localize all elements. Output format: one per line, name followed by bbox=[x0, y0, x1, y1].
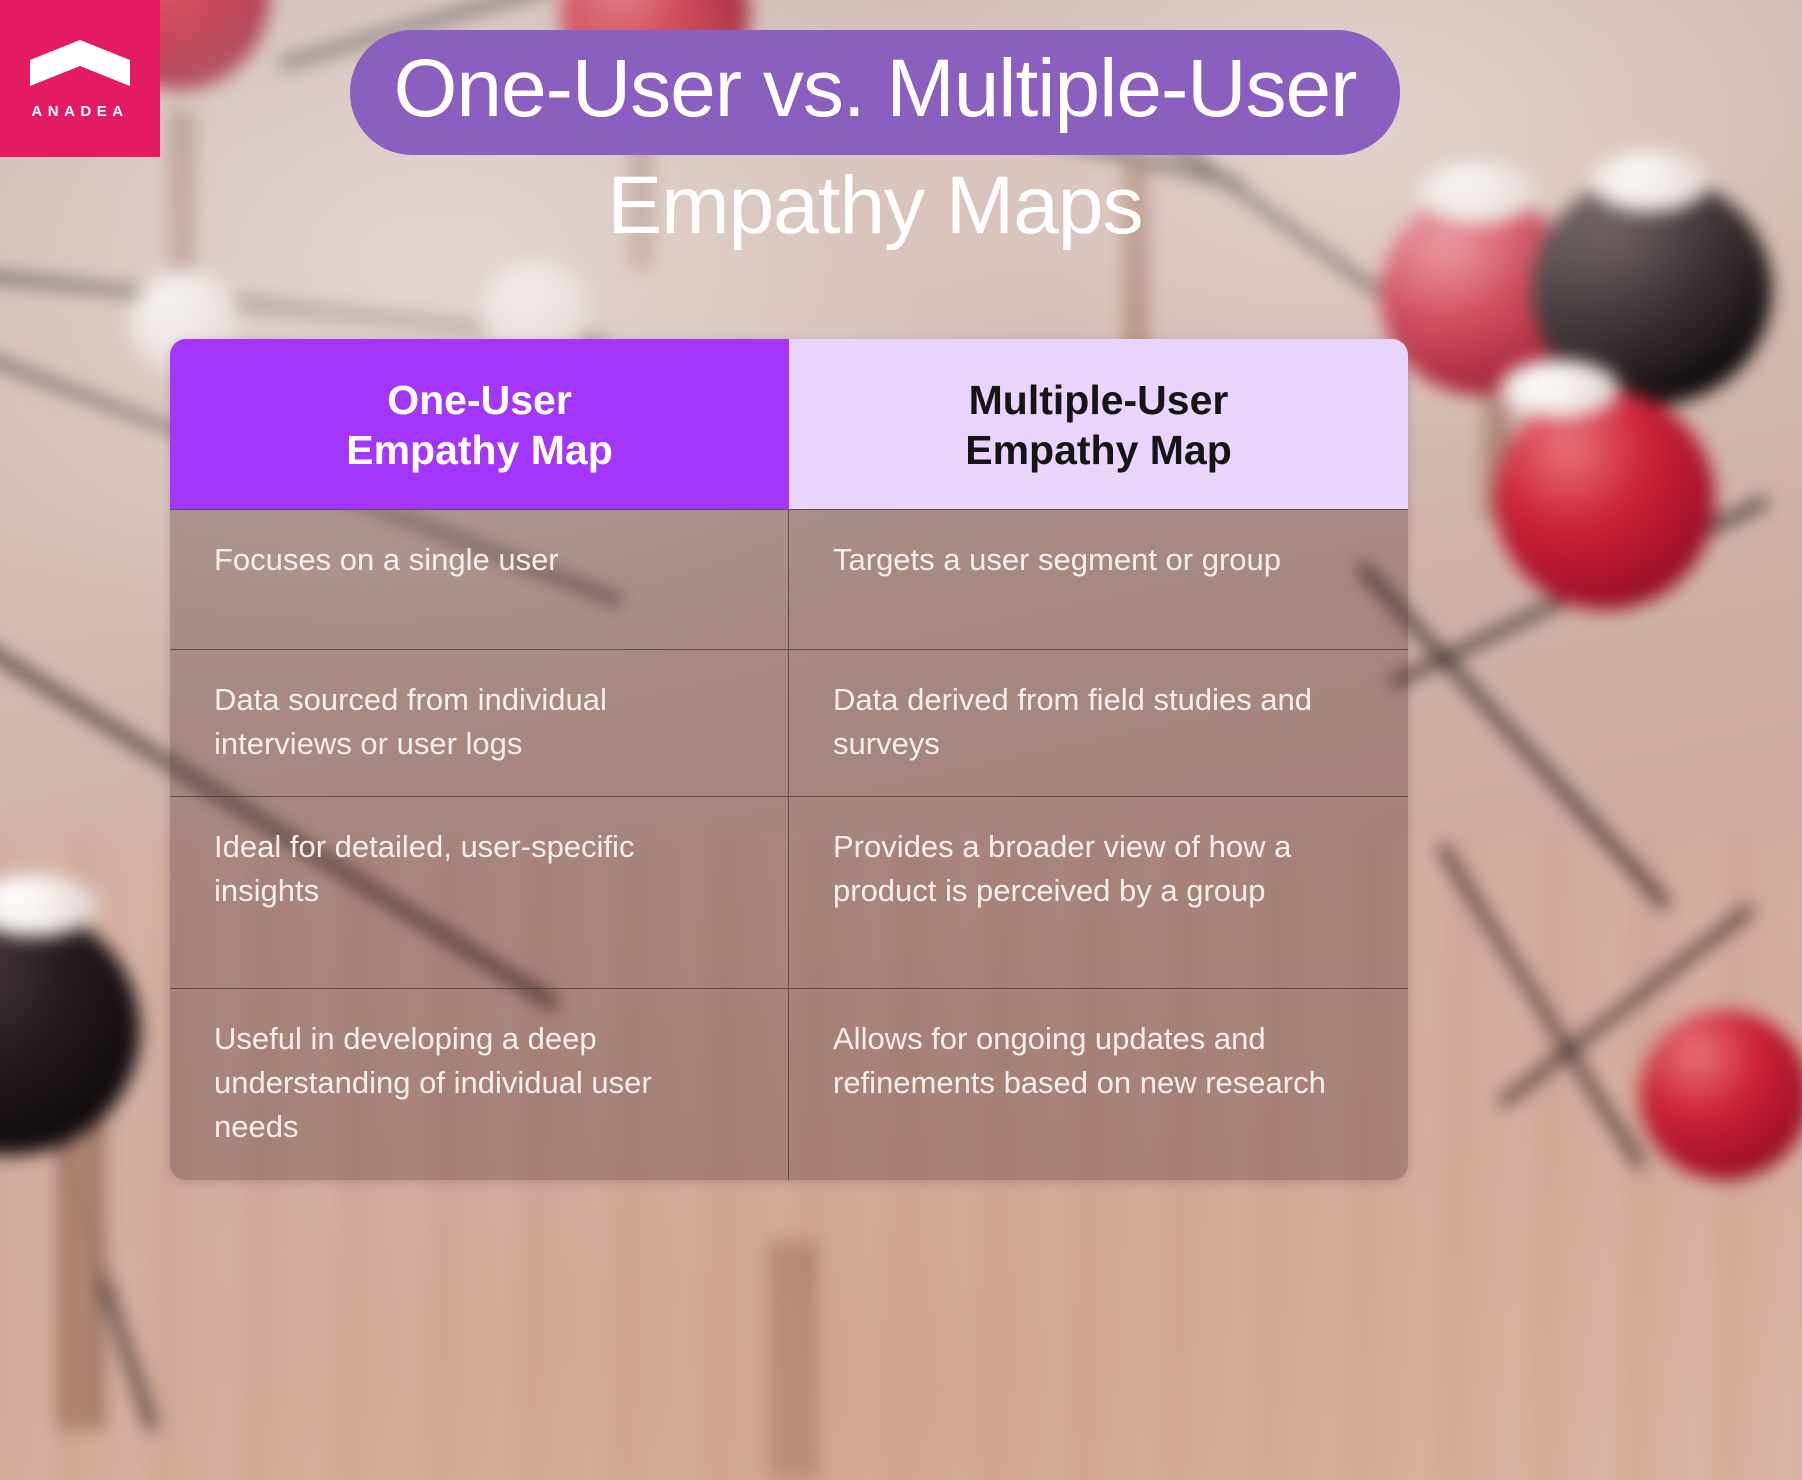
header-line-2: Empathy Map bbox=[188, 425, 771, 475]
table-cell-right: Data derived from field studies and surv… bbox=[789, 649, 1408, 796]
infographic-canvas: ANADEA One-User vs. Multiple-User Empath… bbox=[0, 0, 1802, 1480]
header-line-2: Empathy Map bbox=[807, 425, 1390, 475]
title-line-1: One-User vs. Multiple-User bbox=[350, 30, 1401, 155]
table-cell-left: Ideal for detailed, user-specific insigh… bbox=[170, 796, 789, 988]
table-cell-right: Targets a user segment or group bbox=[789, 509, 1408, 649]
table-cell-right: Provides a broader view of how a product… bbox=[789, 796, 1408, 988]
anadea-wordmark: ANADEA bbox=[31, 104, 128, 119]
comparison-table: One-User Empathy Map Multiple-User Empat… bbox=[170, 339, 1408, 1180]
header-line-1: Multiple-User bbox=[807, 375, 1390, 425]
table-row: Useful in developing a deep understandin… bbox=[170, 988, 1408, 1180]
title-line-2: Empathy Maps bbox=[160, 161, 1590, 251]
table-header-multiple-user: Multiple-User Empathy Map bbox=[789, 339, 1408, 509]
table-row: Ideal for detailed, user-specific insigh… bbox=[170, 796, 1408, 988]
table-cell-left: Useful in developing a deep understandin… bbox=[170, 988, 789, 1180]
table-cell-left: Focuses on a single user bbox=[170, 509, 789, 649]
anadea-chevron-logo-icon bbox=[28, 38, 132, 88]
table-row: Focuses on a single user Targets a user … bbox=[170, 509, 1408, 649]
table-cell-right: Allows for ongoing updates and refinemen… bbox=[789, 988, 1408, 1180]
table-row: Data sourced from individual interviews … bbox=[170, 649, 1408, 796]
table-header-one-user: One-User Empathy Map bbox=[170, 339, 789, 509]
anadea-logo[interactable]: ANADEA bbox=[0, 0, 160, 157]
table-cell-left: Data sourced from individual interviews … bbox=[170, 649, 789, 796]
page-title: One-User vs. Multiple-User Empathy Maps bbox=[160, 30, 1590, 251]
header-line-1: One-User bbox=[188, 375, 771, 425]
table-header-row: One-User Empathy Map Multiple-User Empat… bbox=[170, 339, 1408, 509]
